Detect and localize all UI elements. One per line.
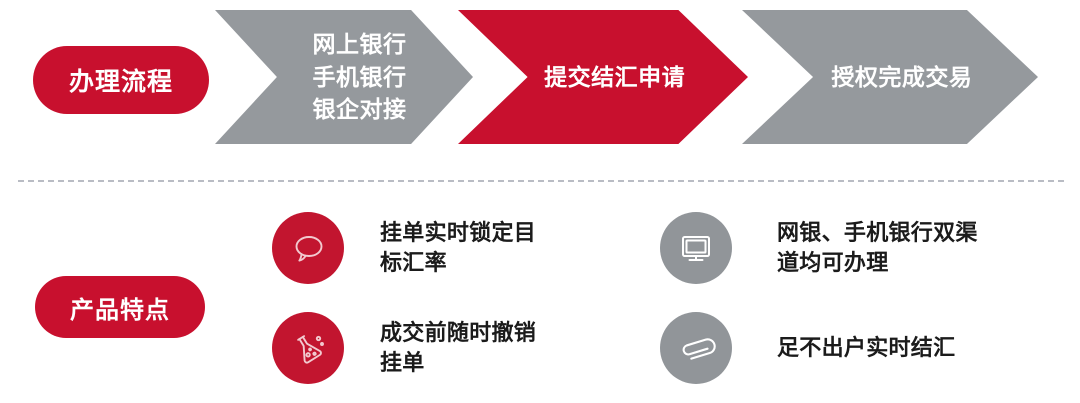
feature-item-4: 足不出户实时结汇 — [660, 312, 955, 384]
feature-item-2: 成交前随时撤销 挂单 — [272, 312, 536, 384]
process-step-1: 网上银行 手机银行 银企对接 — [215, 10, 473, 144]
process-step-3: 授权完成交易 — [742, 10, 1038, 144]
section-divider — [18, 180, 1064, 182]
process-step-3-label: 授权完成交易 — [808, 61, 973, 94]
feature-item-1-label: 挂单实时锁定目 标汇率 — [380, 218, 536, 279]
product-features-pill-label: 产品特点 — [70, 290, 170, 325]
flask-icon — [272, 312, 344, 384]
process-flow-pill-label: 办理流程 — [69, 62, 173, 98]
monitor-icon — [660, 212, 732, 284]
feature-item-3-label: 网银、手机银行双渠 道均可办理 — [777, 218, 978, 279]
product-features-pill: 产品特点 — [35, 276, 205, 338]
feature-item-3: 网银、手机银行双渠 道均可办理 — [660, 212, 978, 284]
feature-item-2-label: 成交前随时撤销 挂单 — [380, 318, 536, 379]
process-flow-pill: 办理流程 — [33, 46, 209, 114]
infographic-canvas: 办理流程 网上银行 手机银行 银企对接 提交结汇申请 授权完成交易 产品特点 挂… — [0, 0, 1080, 403]
process-step-2-label: 提交结汇申请 — [521, 61, 685, 94]
paperclip-icon — [660, 312, 732, 384]
feature-item-4-label: 足不出户实时结汇 — [777, 333, 955, 363]
process-step-2: 提交结汇申请 — [458, 10, 748, 144]
feature-item-1: 挂单实时锁定目 标汇率 — [272, 212, 536, 284]
speech-bubble-icon — [272, 212, 344, 284]
process-step-1-label: 网上银行 手机银行 银企对接 — [282, 28, 407, 126]
